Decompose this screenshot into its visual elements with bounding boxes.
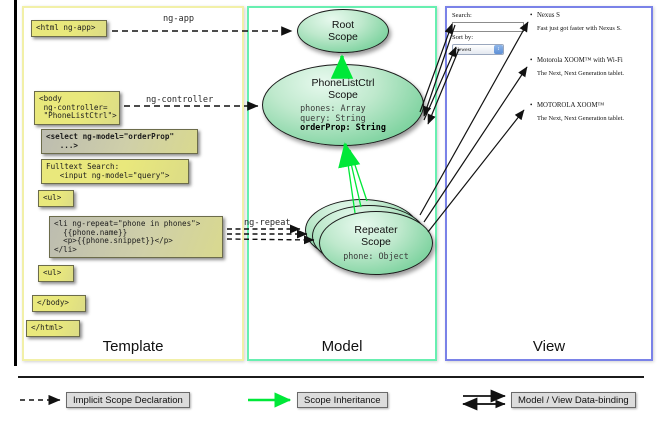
bullet-icon: • [530,57,537,64]
scope-prop-orderprop: orderProp: String [300,122,386,132]
scope-phonelistctrl: PhoneListCtrl Scope phones: Array query:… [262,64,424,146]
scope-repeater: Repeater Scope phone: Object [319,211,433,275]
arrow-label-ng-app: ng-app [163,14,194,24]
phone-snippet: The Next, Next Generation tablet. [537,70,648,77]
bullet-icon: • [530,102,537,109]
search-input[interactable] [452,22,524,32]
list-item: •MOTOROLA XOOM™ The Next, Next Generatio… [530,102,648,122]
code-box-html-close: </html> [26,320,80,337]
scope-root-title-1: Root [332,19,354,31]
legend-divider [18,376,644,378]
list-item: •Nexus S Fast just got faster with Nexus… [530,12,648,32]
phone-snippet: The Next, Next Generation tablet. [537,115,648,122]
scope-phonelistctrl-title-2: Scope [328,89,358,101]
phone-name: •Nexus S [530,12,648,19]
code-box-ul-open: <ul> [38,190,74,207]
panel-model-caption: Model [249,338,435,355]
phone-name: •MOTOROLA XOOM™ [530,102,648,109]
arrow-label-ng-controller: ng-controller [146,95,213,105]
legend-implicit-scope-declaration: Implicit Scope Declaration [66,392,190,408]
search-label: Search: [452,12,472,19]
code-box-li-repeat: <li ng-repeat="phone in phones"> {{phone… [49,216,223,258]
scope-phonelistctrl-props: phones: Array query: String orderProp: S… [300,104,386,133]
diagram-canvas: Template Model View <html ng-app> <body … [0,0,661,425]
arrow-label-ng-repeat: ng-repeat [244,218,291,228]
view-browser-mock: Search: Sort by: Newest ↕ •Nexus S Fast … [452,12,647,342]
code-box-body-open: <body ng-controller= "PhoneListCtrl"> [34,91,120,125]
scope-phonelistctrl-title-1: PhoneListCtrl [311,77,374,89]
sort-label: Sort by: [452,34,473,41]
chevron-updown-icon: ↕ [494,45,503,54]
panel-template-caption: Template [24,338,242,355]
list-item: •Motorola XOOM™ with Wi-Fi The Next, Nex… [530,57,648,77]
code-box-ul-close: <ul> [38,265,74,282]
legend-scope-inheritance: Scope Inheritance [297,392,388,408]
scope-prop-phone: phone: Object [343,252,409,262]
panel-model: Model [247,6,437,361]
sort-select[interactable]: Newest ↕ [452,44,504,55]
left-rail [14,0,17,366]
code-box-html-open: <html ng-app> [31,20,107,37]
scope-repeater-props: phone: Object [343,252,409,262]
code-box-fulltext-search: Fulltext Search: <input ng-model="query"… [41,159,189,184]
phone-name: •Motorola XOOM™ with Wi-Fi [530,57,648,64]
phone-snippet: Fast just got faster with Nexus S. [537,25,648,32]
sort-select-value: Newest [455,47,471,53]
scope-root-title-2: Scope [328,31,358,43]
code-box-body-close: </body> [32,295,86,312]
bullet-icon: • [530,12,537,19]
scope-repeater-title-1: Repeater [354,224,397,236]
scope-root: Root Scope [297,9,389,53]
legend-model-view-data-binding: Model / View Data-binding [511,392,636,408]
code-box-select-tag: <select ng-model="orderProp" ...> [41,129,198,154]
scope-repeater-title-2: Scope [361,236,391,248]
